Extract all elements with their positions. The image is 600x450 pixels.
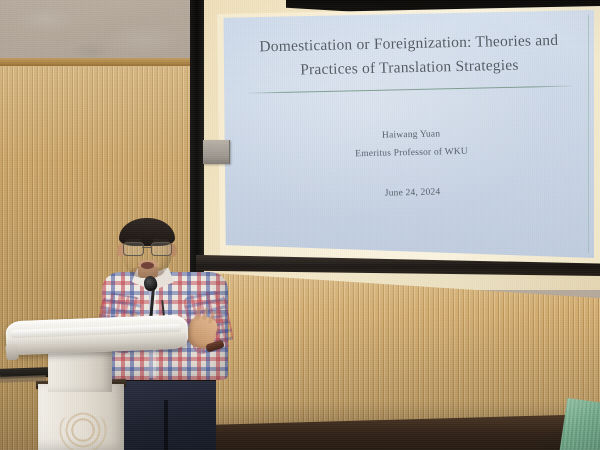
eyeglasses-icon [123, 242, 171, 254]
lecture-hall-photo: Domestication or Foreignization: Theorie… [0, 0, 600, 450]
presenter-mouth [141, 262, 154, 269]
wall-speaker-box [203, 140, 230, 164]
slide-inner-border [225, 13, 589, 263]
presenter-leg-gap [164, 400, 168, 450]
presenter-trousers [120, 376, 216, 450]
podium-column [48, 348, 112, 392]
podium-side-knob [5, 343, 19, 360]
upper-wall [0, 0, 205, 64]
podium-emblem [56, 412, 110, 450]
